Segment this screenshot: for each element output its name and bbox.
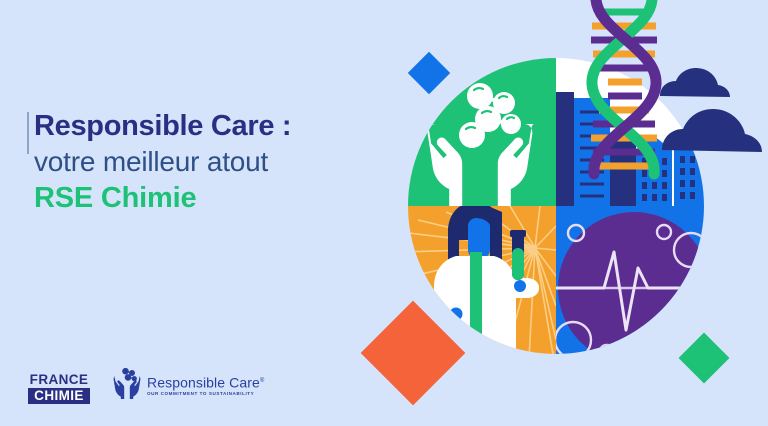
illustration-svg	[360, 0, 768, 426]
page-subtitle: votre meilleur atout	[34, 145, 387, 179]
banner-root: Responsible Care : votre meilleur atout …	[0, 0, 768, 426]
coral-diamond-icon	[361, 301, 466, 406]
registered-mark: ®	[260, 378, 265, 384]
logo-row: FRANCE CHIMIE Responsib	[28, 367, 264, 404]
france-chimie-logo[interactable]: FRANCE CHIMIE	[28, 372, 90, 404]
responsible-care-tagline: OUR COMMITMENT TO SUSTAINABILITY	[147, 390, 264, 397]
headline-block: Responsible Care : votre meilleur atout …	[27, 108, 387, 216]
page-tagline: RSE Chimie	[34, 181, 387, 216]
accent-bar	[27, 112, 29, 154]
france-chimie-line1: FRANCE	[28, 372, 90, 387]
france-chimie-line2: CHIMIE	[28, 388, 90, 404]
green-diamond-icon	[679, 333, 730, 384]
quadrant-circle	[400, 50, 716, 378]
page-title: Responsible Care :	[34, 108, 387, 144]
hands-molecule-icon	[112, 367, 142, 404]
illustration	[360, 0, 768, 426]
responsible-care-logo[interactable]: Responsible Care® OUR COMMITMENT TO SUST…	[112, 367, 264, 404]
responsible-care-name: Responsible Care®	[147, 374, 264, 391]
cloud-large-icon	[662, 109, 762, 152]
blue-diamond-icon	[408, 52, 450, 94]
cloud-small-icon	[660, 68, 730, 97]
